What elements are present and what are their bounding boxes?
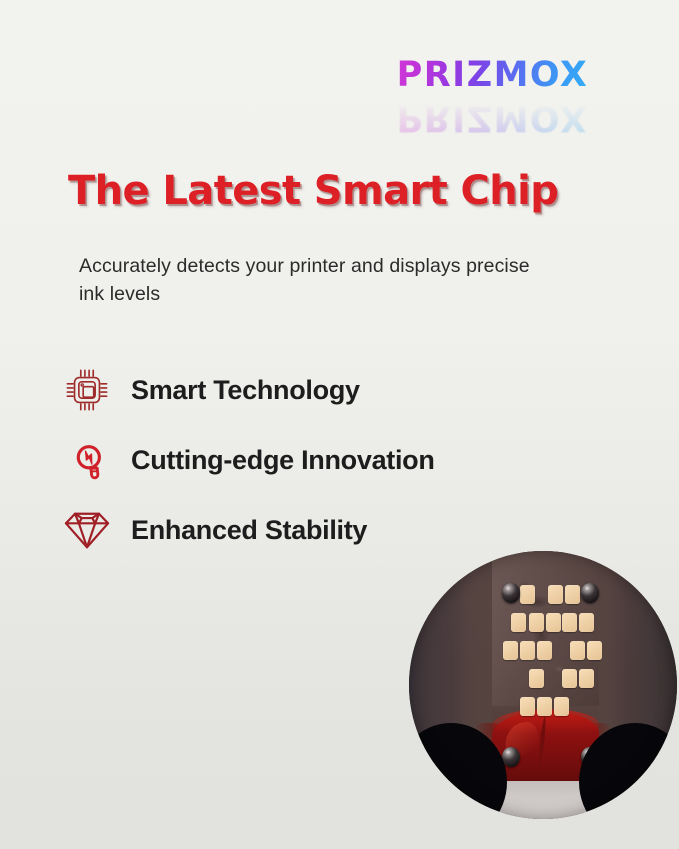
feature-label: Enhanced Stability (118, 515, 367, 546)
product-photo (409, 551, 677, 819)
brand-logo-reflection: PRIZMOX (385, 98, 600, 138)
feature-label: Cutting-edge Innovation (118, 445, 435, 476)
feature-item-cutting-edge-innovation: Cutting-edge Innovation (56, 425, 616, 495)
diamond-icon (56, 500, 118, 560)
brand-logo-text: PRIZMOX (385, 55, 600, 95)
page-title: The Latest Smart Chip (68, 168, 558, 214)
product-feature-page: PRIZMOX PRIZMOX The Latest Smart Chip Ac… (0, 0, 679, 849)
lightbulb-bolt-icon (56, 430, 118, 490)
microchip-icon (56, 360, 118, 420)
photo-vignette (409, 551, 677, 819)
feature-label: Smart Technology (118, 375, 360, 406)
feature-list: Smart Technology Cutting-edge Innovation (56, 355, 616, 565)
page-subtitle: Accurately detects your printer and disp… (79, 252, 559, 308)
brand-logo: PRIZMOX PRIZMOX (385, 55, 600, 145)
feature-item-smart-technology: Smart Technology (56, 355, 616, 425)
